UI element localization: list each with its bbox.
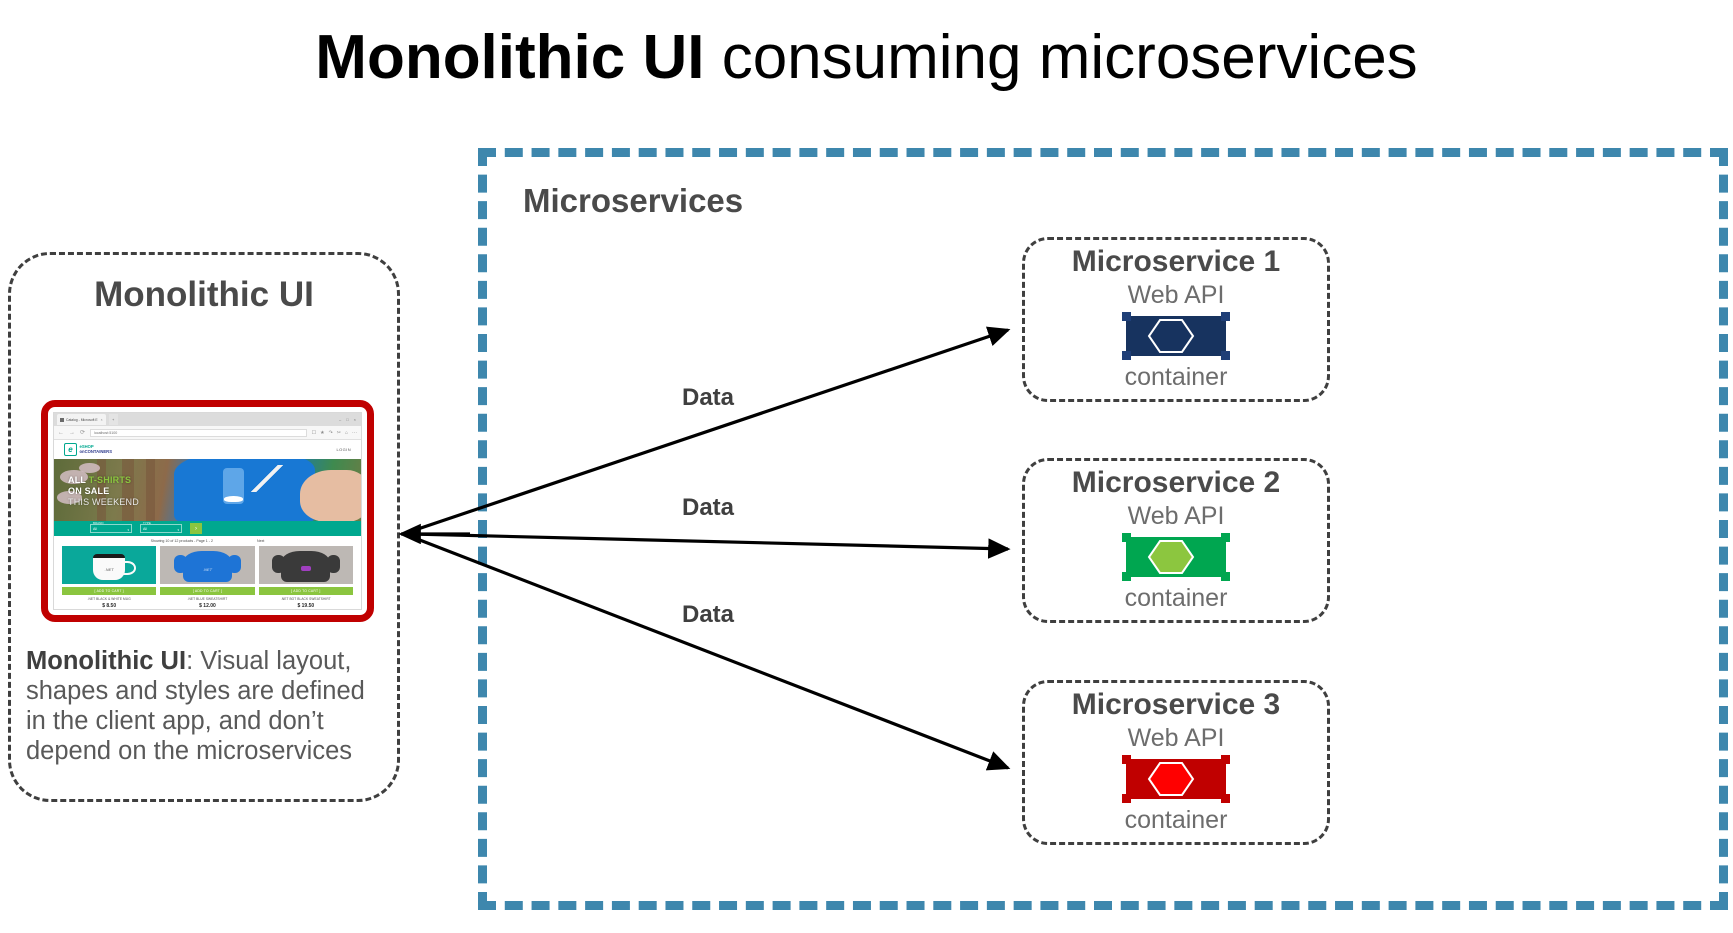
notes-icon[interactable]: ✂ — [337, 430, 341, 436]
tab-close-icon[interactable]: × — [101, 418, 103, 422]
apply-filter-button[interactable]: › — [190, 523, 202, 534]
add-to-cart-button[interactable]: [ ADD TO CART ] — [160, 587, 254, 595]
data-flow-label-2: Data — [682, 494, 734, 522]
container-icon-red — [1126, 759, 1226, 799]
add-to-cart-button[interactable]: [ ADD TO CART ] — [259, 587, 353, 595]
browser-tab-strip: Catalog - Microsoft E × + – □ × — [54, 413, 361, 426]
hoodie-logo-text: .NET — [183, 567, 232, 572]
url-input[interactable]: localhost:5100 — [90, 429, 307, 437]
selection-handle-icon[interactable] — [1221, 351, 1230, 360]
product-image-mug: .NET — [62, 546, 156, 584]
tab-favicon-icon — [60, 418, 64, 422]
type-filter-select[interactable]: TYPE All ▾ — [140, 524, 182, 533]
page-title-regular: consuming microservices — [704, 23, 1417, 92]
product-image-blue-hoodie: .NET — [160, 546, 254, 584]
product-name: .NET BOT BLACK SWEATSHIRT — [259, 597, 353, 601]
page-title: Monolithic UI consuming microservices — [0, 22, 1733, 94]
page-title-bold: Monolithic UI — [315, 23, 704, 92]
microservice-1-container-label: container — [1025, 362, 1327, 392]
browser-window: Catalog - Microsoft E × + – □ × ← → ⟳ lo… — [53, 412, 362, 610]
product-name: .NET BLUE SWEATSHIRT — [160, 597, 254, 601]
container-icon-2-wrap[interactable] — [1122, 533, 1230, 581]
logo-line-2: onCONTAINERS — [80, 450, 113, 454]
product-card[interactable]: .NET [ ADD TO CART ] .NET BLUE SWEATSHIR… — [160, 546, 254, 609]
browser-tab-title: Catalog - Microsoft E — [66, 418, 98, 422]
hero-line-1: ALL T-SHIRTS — [68, 475, 139, 486]
product-card[interactable]: .NET [ ADD TO CART ] .NET BLACK & WHITE … — [62, 546, 156, 609]
site-logo[interactable]: e eSHOP onCONTAINERS — [64, 443, 112, 456]
more-icon[interactable]: ··· — [352, 430, 357, 436]
container-icon-3-wrap[interactable] — [1122, 755, 1230, 803]
catalog-filter-bar: BRAND All ▾ TYPE All ▾ › — [54, 521, 361, 536]
browser-toolbar-icons: ☐ ★ ↷ ✂ ⌂ ··· — [312, 430, 357, 436]
container-icon-1-wrap[interactable] — [1122, 312, 1230, 360]
product-price: $ 8.50 — [62, 603, 156, 609]
microservice-card-2[interactable]: Microservice 2 Web API container — [1022, 458, 1330, 623]
catalog-meta: Showing 10 of 12 products - Page 1 - 2 N… — [54, 539, 361, 543]
product-name: .NET BLACK & WHITE MUG — [62, 597, 156, 601]
microservice-card-3[interactable]: Microservice 3 Web API container — [1022, 680, 1330, 845]
product-grid: .NET [ ADD TO CART ] .NET BLACK & WHITE … — [54, 546, 361, 609]
data-flow-label-1: Data — [682, 384, 734, 412]
browser-screenshot-frame: Catalog - Microsoft E × + – □ × ← → ⟳ lo… — [41, 400, 374, 622]
microservice-1-webapi-label: Web API — [1025, 280, 1327, 310]
container-icon-navy — [1126, 316, 1226, 356]
container-icon-green — [1126, 537, 1226, 577]
product-catalog: Showing 10 of 12 products - Page 1 - 2 N… — [54, 536, 361, 610]
selection-handle-icon[interactable] — [1221, 572, 1230, 581]
window-close-icon[interactable]: × — [354, 417, 356, 422]
microservice-2-webapi-label: Web API — [1025, 501, 1327, 531]
hub-icon[interactable]: ⌂ — [345, 430, 348, 436]
selection-handle-icon[interactable] — [1122, 755, 1131, 764]
window-maximize-icon[interactable]: □ — [346, 417, 348, 422]
microservice-2-container-label: container — [1025, 583, 1327, 613]
product-card[interactable]: [ ADD TO CART ] .NET BOT BLACK SWEATSHIR… — [259, 546, 353, 609]
browser-address-bar: ← → ⟳ localhost:5100 ☐ ★ ↷ ✂ ⌂ ··· — [54, 426, 361, 440]
browser-tab[interactable]: Catalog - Microsoft E × — [57, 414, 106, 425]
favorite-star-icon[interactable]: ★ — [320, 430, 324, 436]
forward-icon[interactable]: → — [69, 430, 75, 436]
selection-handle-icon[interactable] — [1122, 572, 1131, 581]
hero-text: ALL T-SHIRTS ON SALE THIS WEEKEND — [68, 475, 139, 508]
catalog-count-text: Showing 10 of 12 products - Page 1 - 2 — [151, 539, 213, 543]
catalog-next-link[interactable]: Next — [257, 539, 264, 543]
selection-handle-icon[interactable] — [1122, 351, 1131, 360]
product-price: $ 19.50 — [259, 603, 353, 609]
eshop-badge-icon: e — [64, 443, 77, 456]
hero-banner: ALL T-SHIRTS ON SALE THIS WEEKEND — [54, 459, 361, 521]
site-header: e eSHOP onCONTAINERS LOGIN — [54, 440, 361, 459]
selection-handle-icon[interactable] — [1122, 533, 1131, 542]
product-image-black-hoodie — [259, 546, 353, 584]
hero-line-2: ON SALE — [68, 486, 139, 497]
type-filter-value: All — [143, 527, 147, 531]
brand-filter-select[interactable]: BRAND All ▾ — [90, 524, 132, 533]
microservice-3-title: Microservice 3 — [1025, 687, 1327, 723]
monolithic-ui-caption: Monolithic UI: Visual layout, shapes and… — [26, 646, 378, 766]
selection-handle-icon[interactable] — [1221, 794, 1230, 803]
chevron-down-icon: ▾ — [177, 528, 179, 532]
caption-bold: Monolithic UI — [26, 647, 186, 675]
selection-handle-icon[interactable] — [1122, 794, 1131, 803]
share-icon[interactable]: ↷ — [329, 430, 333, 436]
reload-icon[interactable]: ⟳ — [80, 429, 85, 436]
data-flow-label-3: Data — [682, 601, 734, 629]
hero-line-3: THIS WEEKEND — [68, 497, 139, 508]
brand-filter-value: All — [93, 527, 97, 531]
add-to-cart-button[interactable]: [ ADD TO CART ] — [62, 587, 156, 595]
microservice-3-container-label: container — [1025, 805, 1327, 835]
window-controls: – □ × — [339, 417, 358, 422]
type-filter-label: TYPE — [143, 521, 151, 525]
brand-filter-label: BRAND — [93, 521, 104, 525]
slide-canvas: Monolithic UI consuming microservices Mi… — [0, 0, 1733, 933]
selection-handle-icon[interactable] — [1221, 312, 1230, 321]
reading-view-icon[interactable]: ☐ — [312, 430, 316, 436]
hero-knife-graphic — [244, 465, 290, 492]
selection-handle-icon[interactable] — [1122, 312, 1131, 321]
microservice-1-title: Microservice 1 — [1025, 244, 1327, 280]
new-tab-button[interactable]: + — [109, 414, 118, 425]
hero-arm — [300, 470, 361, 521]
microservice-2-title: Microservice 2 — [1025, 465, 1327, 501]
product-price: $ 12.00 — [160, 603, 254, 609]
microservices-boundary-label: Microservices — [523, 182, 743, 220]
monolithic-ui-title: Monolithic UI — [8, 275, 400, 315]
window-minimize-icon[interactable]: – — [339, 417, 341, 422]
login-link[interactable]: LOGIN — [337, 447, 351, 452]
selection-handle-icon[interactable] — [1221, 533, 1230, 542]
microservice-3-webapi-label: Web API — [1025, 723, 1327, 753]
back-icon[interactable]: ← — [58, 430, 64, 436]
selection-handle-icon[interactable] — [1221, 755, 1230, 764]
chevron-down-icon: ▾ — [127, 528, 129, 532]
hero-shirt-logo — [224, 496, 242, 502]
microservice-card-1[interactable]: Microservice 1 Web API container — [1022, 237, 1330, 402]
